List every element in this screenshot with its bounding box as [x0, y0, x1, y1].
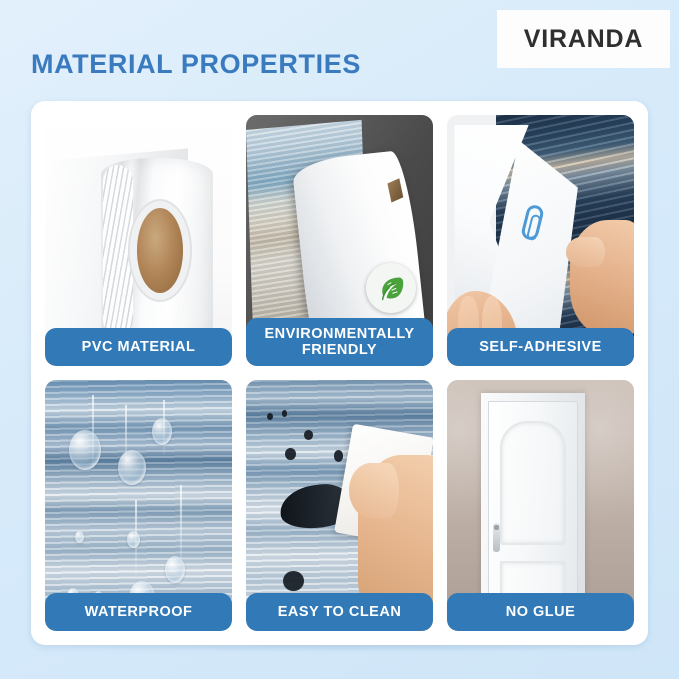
- feature-label-text: EASY TO CLEAN: [278, 604, 402, 620]
- feature-card-pvc-material[interactable]: PVC MATERIAL: [45, 115, 232, 366]
- feature-card-grid: PVC MATERIAL: [45, 115, 634, 631]
- page-title: MATERIAL PROPERTIES: [31, 49, 361, 80]
- peel-corner-shape: [387, 178, 403, 202]
- door-frame-shape: [481, 393, 586, 624]
- feature-label-waterproof: WATERPROOF: [45, 593, 232, 631]
- brand-logo: VIRANDA: [497, 10, 670, 68]
- feature-label-text: NO GLUE: [506, 604, 576, 620]
- stain-spot: [283, 571, 304, 591]
- stain-spot: [304, 430, 313, 440]
- water-droplet: [127, 531, 140, 549]
- pvc-roll-layers: [103, 165, 133, 336]
- feature-label-pvc-material: PVC MATERIAL: [45, 328, 232, 366]
- water-droplet: [118, 450, 146, 485]
- pvc-cardboard-core: [137, 208, 184, 293]
- feature-card-environmentally-friendly[interactable]: ENVIRONMENTALLY FRIENDLY: [246, 115, 433, 366]
- feature-card-no-glue[interactable]: NO GLUE: [447, 380, 634, 631]
- right-hand-shape: [570, 220, 634, 335]
- feature-card-easy-to-clean[interactable]: EASY TO CLEAN: [246, 380, 433, 631]
- feature-label-self-adhesive: SELF-ADHESIVE: [447, 328, 634, 366]
- water-droplet: [75, 531, 84, 544]
- water-droplet: [152, 418, 173, 446]
- stain-spot: [285, 448, 296, 461]
- feature-label-text: SELF-ADHESIVE: [479, 339, 602, 355]
- stain-spot: [267, 413, 274, 421]
- leaf-icon: [377, 274, 405, 302]
- feature-label-text: ENVIRONMENTALLY FRIENDLY: [252, 326, 427, 358]
- header: MATERIAL PROPERTIES VIRANDA: [0, 0, 679, 101]
- feature-label-text: PVC MATERIAL: [82, 339, 196, 355]
- feature-panel: PVC MATERIAL: [31, 101, 648, 645]
- stain-spot: [334, 450, 343, 461]
- door-handle: [493, 523, 499, 552]
- feature-card-waterproof[interactable]: WATERPROOF: [45, 380, 232, 631]
- water-droplet: [69, 430, 101, 470]
- feature-label-easy-to-clean: EASY TO CLEAN: [246, 593, 433, 631]
- feature-card-self-adhesive[interactable]: SELF-ADHESIVE: [447, 115, 634, 366]
- feature-label-no-glue: NO GLUE: [447, 593, 634, 631]
- door-panel-top: [500, 421, 565, 545]
- stain-spot: [282, 410, 288, 417]
- brand-logo-text: VIRANDA: [524, 25, 644, 54]
- feature-label-text: WATERPROOF: [85, 604, 193, 620]
- feature-label-environmentally-friendly: ENVIRONMENTALLY FRIENDLY: [246, 318, 433, 366]
- door-slab-shape: [488, 401, 578, 624]
- water-droplet: [165, 556, 186, 584]
